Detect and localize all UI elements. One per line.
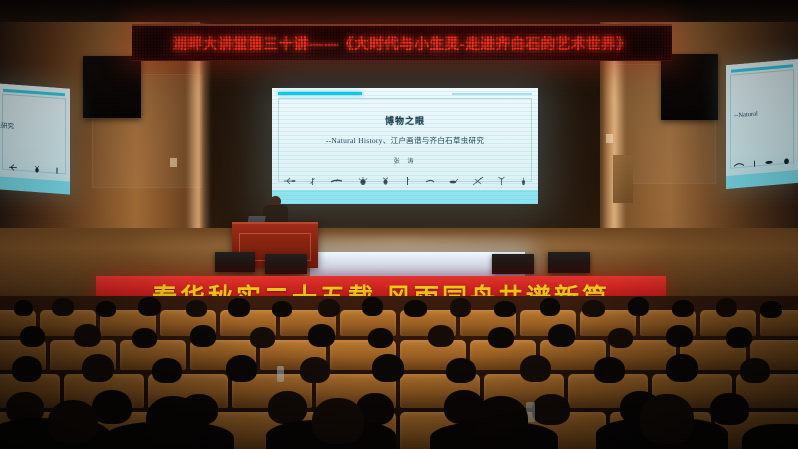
audience-head [740,358,770,383]
audience-foreground-silhouette [742,424,798,449]
insect-icon-grasshopper [330,178,344,185]
audience-head [268,391,307,424]
insect-icon-cicada [404,176,411,186]
slide-accent-bar [278,92,362,95]
audience-head [300,357,330,383]
audience-head [308,324,335,347]
audience-head [494,301,516,317]
audience-head [594,357,625,383]
slide-author: 张 涛 [272,156,538,165]
insect-icon-moth [425,179,435,184]
side-screen-right: --Natural [726,59,798,189]
slide-surface: 博物之眼 --Natural History、江户画谱与齐白石草虫研究 张 涛 [272,88,538,204]
slide-accent-bar-secondary [452,93,532,95]
insect-icon-bee-small [33,164,41,173]
insect-icon-grasshopper-small [764,158,775,166]
stage-monitor-1 [215,252,255,272]
audience-head [368,328,393,348]
audience-head-foreground [146,396,200,444]
audience-head [372,354,404,382]
wall-speaker-right [661,54,718,120]
insect-icon-cicada-small [54,166,60,174]
auditorium-photo: 湖畔大讲堂第三十讲——《大时代与小生灵-走进齐白石的艺术世界》 博物之眼 --N… [0,0,798,449]
water-bottle [277,366,284,382]
insect-icon-wasp [520,177,527,186]
audience-head [96,301,116,317]
audience-head [250,327,275,348]
insect-icon-mantis-small [752,159,757,167]
main-projection-screen: 博物之眼 --Natural History、江户画谱与齐白石草虫研究 张 涛 [272,88,538,204]
audience-head [82,354,114,382]
audience-head [628,297,649,316]
audience-head [12,356,42,382]
audience-head [52,298,74,316]
audience-head [362,297,383,316]
audience-head [582,300,605,317]
audience-head [488,327,514,348]
audience-head [446,358,476,383]
wall-speaker-left [83,56,141,118]
ceiling [0,0,798,22]
light-switch-right [606,134,613,143]
audience-head [716,298,737,317]
audience-head [138,297,161,316]
insect-icon-bee [381,177,390,186]
stage-monitor-3 [492,254,534,274]
slide-title: 博物之眼 [272,114,538,127]
insect-icon-dragonfly-small [8,163,20,172]
audience-head [450,298,471,317]
audience-head [318,299,340,317]
audience-head [726,327,752,348]
audience-head [20,326,45,347]
audience-head [92,390,132,424]
audience-head-foreground [48,400,98,444]
audience-head [520,355,551,382]
audience-head [710,393,749,425]
insect-icon-beetle [358,177,368,186]
stage-door-right [613,155,633,203]
insect-icon-beetle-small [782,156,791,165]
audience-head [74,324,101,347]
slide-subtitle: --Natural History、江户画谱与齐白石草虫研究 [272,135,538,146]
led-banner-text: 湖畔大讲堂第三十讲——《大时代与小生灵-走进齐白石的艺术世界》 [173,33,631,54]
audience-head [132,328,157,348]
side-screen-right-border [730,69,794,169]
audience-head [672,300,694,317]
slide-insect-row [276,174,534,188]
audience-head [760,301,782,318]
audience-head [428,325,454,347]
audience-head [190,325,216,347]
audience-head [666,354,698,382]
audience-head [532,394,570,425]
audience-head [548,324,575,347]
audience-head [608,328,633,348]
audience-head [666,325,693,347]
audience-area [0,296,798,449]
insect-icon-moth-small [733,161,745,168]
insect-icon-cricket [448,178,458,185]
stage-monitor-2 [265,254,307,274]
slide-footer-band [272,190,538,204]
audience-head [404,300,427,317]
audience-head [272,301,292,317]
audience-head [540,298,560,316]
stage-monitor-4 [548,252,590,273]
audience-head-foreground [312,398,364,444]
insect-icon-dragonfly [283,177,296,185]
audience-head-foreground [640,394,694,444]
audience-head [228,298,250,317]
light-switch-left [170,158,177,167]
side-screen-left: 草虫研究 [0,83,70,194]
audience-head [152,358,182,383]
insect-icon-damselfly [472,176,484,186]
audience-head-foreground [474,396,528,444]
audience-head [226,355,257,382]
led-banner: 湖畔大讲堂第三十讲——《大时代与小生灵-走进齐白石的艺术世界》 [132,24,672,61]
audience-head [14,300,33,316]
insect-icon-mantis [309,177,316,186]
insect-icon-locust [497,176,506,186]
audience-head [186,300,207,317]
